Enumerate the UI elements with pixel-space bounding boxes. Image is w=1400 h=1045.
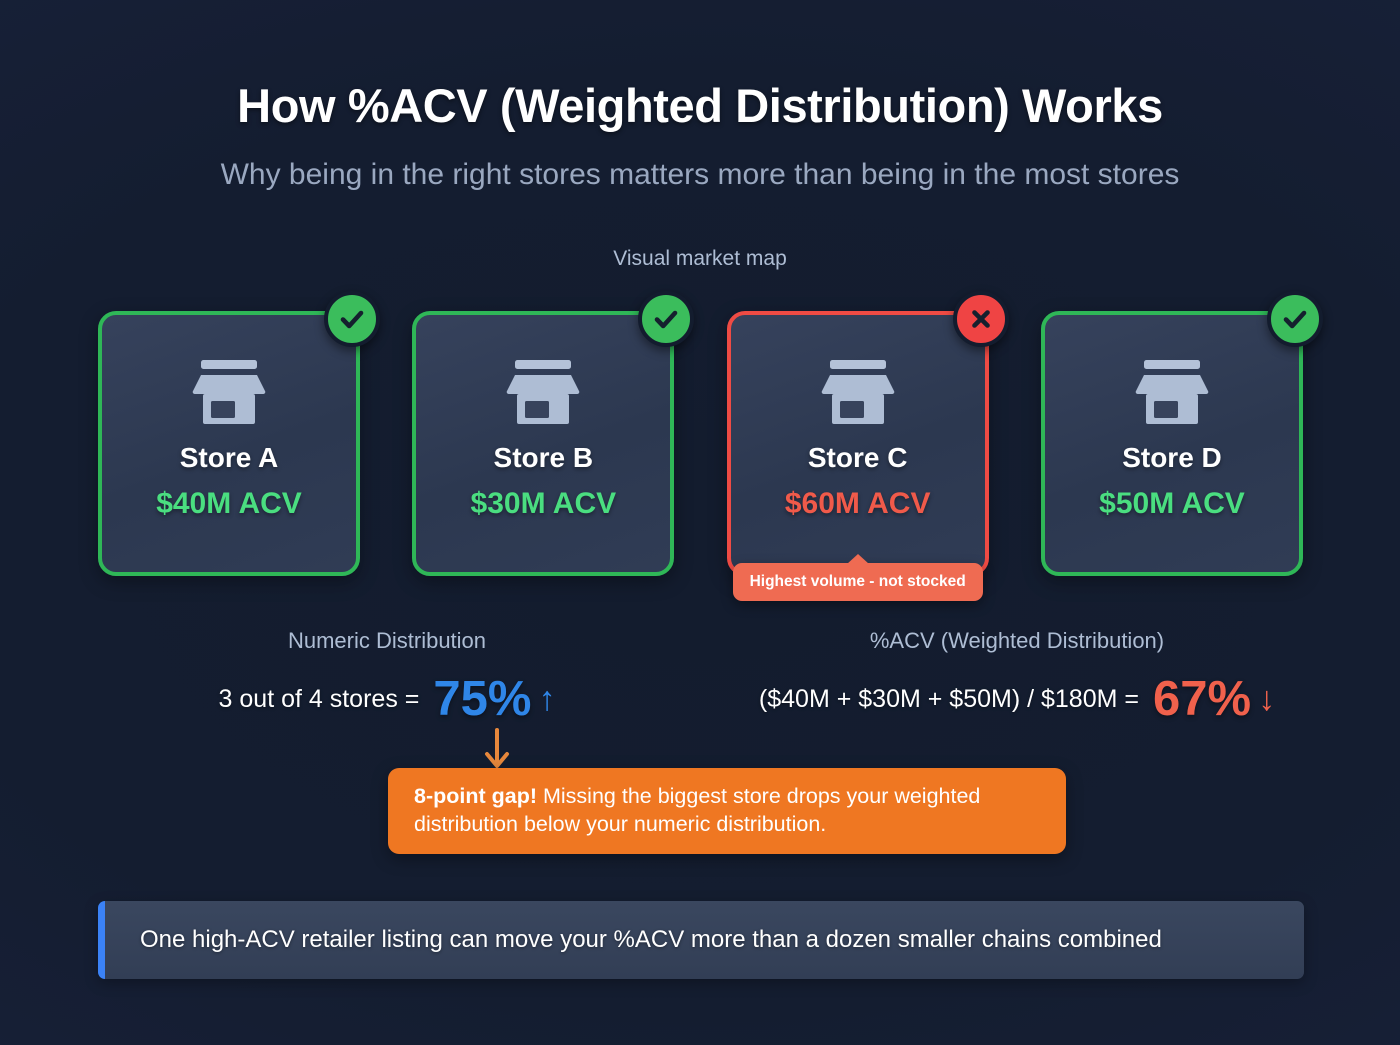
- weighted-distribution-row: ($40M + $30M + $50M) / $180M = 67% ↓: [724, 668, 1310, 730]
- footer-takeaway-text: One high-ACV retailer listing can move y…: [140, 926, 1162, 954]
- gap-callout-highlight: 8-point gap!: [414, 784, 537, 808]
- store-acv-value: $40M ACV: [156, 487, 302, 521]
- storefront-icon: [1132, 358, 1212, 426]
- section-label-visual-market-map: Visual market map: [0, 247, 1400, 271]
- check-icon: [1279, 303, 1311, 335]
- arrow-down-icon: ↓: [1258, 680, 1275, 719]
- calculation-rows: 3 out of 4 stores = 75% ↑ ($40M + $30M +…: [0, 668, 1400, 730]
- numeric-result-value: 75%: [433, 671, 531, 727]
- calculation-labels: Numeric Distribution %ACV (Weighted Dist…: [0, 628, 1400, 660]
- store-name: Store A: [180, 442, 279, 474]
- store-card-c[interactable]: Store C $60M ACV Highest volume - not st…: [727, 311, 989, 576]
- footer-takeaway-bar: One high-ACV retailer listing can move y…: [98, 901, 1304, 979]
- store-c-tooltip: Highest volume - not stocked: [733, 563, 983, 601]
- store-name: Store B: [494, 442, 594, 474]
- numeric-distribution-label: Numeric Distribution: [181, 628, 593, 654]
- arrow-down-icon: [480, 728, 514, 772]
- page-title: How %ACV (Weighted Distribution) Works: [0, 78, 1400, 133]
- storefront-icon: [189, 358, 269, 426]
- check-icon: [650, 303, 682, 335]
- store-acv-value: $30M ACV: [471, 487, 617, 521]
- store-acv-value: $60M ACV: [785, 487, 931, 521]
- store-name: Store D: [1122, 442, 1222, 474]
- check-icon-badge-d: [1267, 291, 1323, 347]
- gap-callout-text: 8-point gap! Missing the biggest store d…: [414, 782, 1040, 839]
- check-icon-badge-a: [324, 291, 380, 347]
- weighted-result-value: 67%: [1153, 671, 1251, 727]
- storefront-icon: [818, 358, 898, 426]
- check-icon: [336, 303, 368, 335]
- storefront-icon: [503, 358, 583, 426]
- store-name: Store C: [808, 442, 908, 474]
- store-card-d[interactable]: Store D $50M ACV: [1041, 311, 1303, 576]
- x-icon-badge-c: [953, 291, 1009, 347]
- store-card-list: Store A $40M ACV Store B $30M ACV: [98, 311, 1303, 576]
- arrow-up-icon: ↑: [538, 680, 555, 719]
- store-card-a[interactable]: Store A $40M ACV: [98, 311, 360, 576]
- infographic-page: How %ACV (Weighted Distribution) Works W…: [0, 0, 1400, 1045]
- x-icon: [965, 303, 997, 335]
- store-card-b[interactable]: Store B $30M ACV: [412, 311, 674, 576]
- weighted-expression: ($40M + $30M + $50M) / $180M =: [759, 685, 1139, 714]
- gap-callout-banner: 8-point gap! Missing the biggest store d…: [388, 768, 1066, 854]
- store-acv-value: $50M ACV: [1099, 487, 1245, 521]
- numeric-distribution-row: 3 out of 4 stores = 75% ↑: [181, 668, 593, 730]
- check-icon-badge-b: [638, 291, 694, 347]
- page-subtitle: Why being in the right stores matters mo…: [0, 158, 1400, 192]
- weighted-distribution-label: %ACV (Weighted Distribution): [724, 628, 1310, 654]
- numeric-expression: 3 out of 4 stores =: [219, 685, 420, 714]
